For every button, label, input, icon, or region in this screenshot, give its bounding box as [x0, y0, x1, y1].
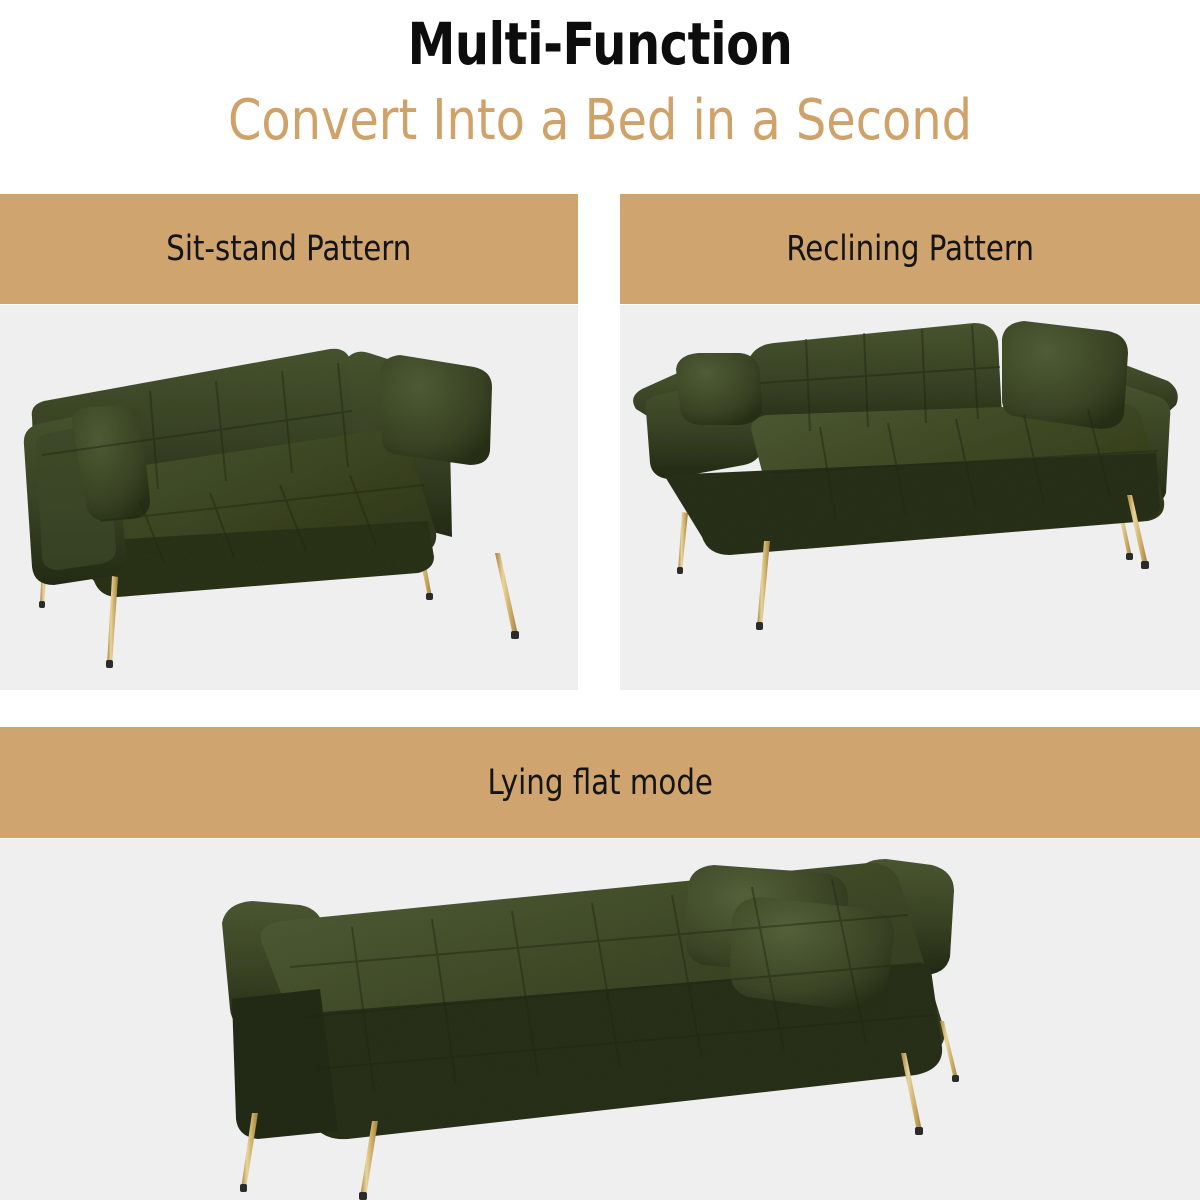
product-photo-reclining [620, 305, 1200, 690]
label-text-lying-flat: Lying flat mode [487, 763, 712, 803]
label-text-reclining: Reclining Pattern [786, 229, 1034, 269]
sofa-pillow-reclining [1002, 321, 1128, 429]
bed-pillow-front [730, 897, 894, 1011]
sofa-base-reclining [664, 453, 1160, 555]
bed-side-left [232, 989, 338, 1139]
product-photo-sit-stand [0, 305, 578, 690]
page-subtitle: Convert Into a Bed in a Second [30, 88, 1170, 153]
heading-block: Multi-Function Convert Into a Bed in a S… [0, 0, 1200, 194]
sofa-illustration-sit-stand [0, 305, 578, 690]
label-text-sit-stand: Sit-stand Pattern [166, 229, 411, 269]
page-title: Multi-Function [48, 10, 1152, 78]
infographic-page: Multi-Function Convert Into a Bed in a S… [0, 0, 1200, 1200]
sofa-illustration-lying-flat [0, 839, 1200, 1200]
label-band-reclining: Reclining Pattern [620, 194, 1200, 304]
sofa-illustration-reclining [620, 305, 1200, 690]
label-band-lying-flat: Lying flat mode [0, 727, 1200, 838]
label-band-sit-stand: Sit-stand Pattern [0, 194, 578, 304]
sofa-headrest-reclining [676, 353, 762, 425]
product-photo-lying-flat [0, 839, 1200, 1200]
sofa-pillow-right-sit-stand [380, 355, 492, 465]
